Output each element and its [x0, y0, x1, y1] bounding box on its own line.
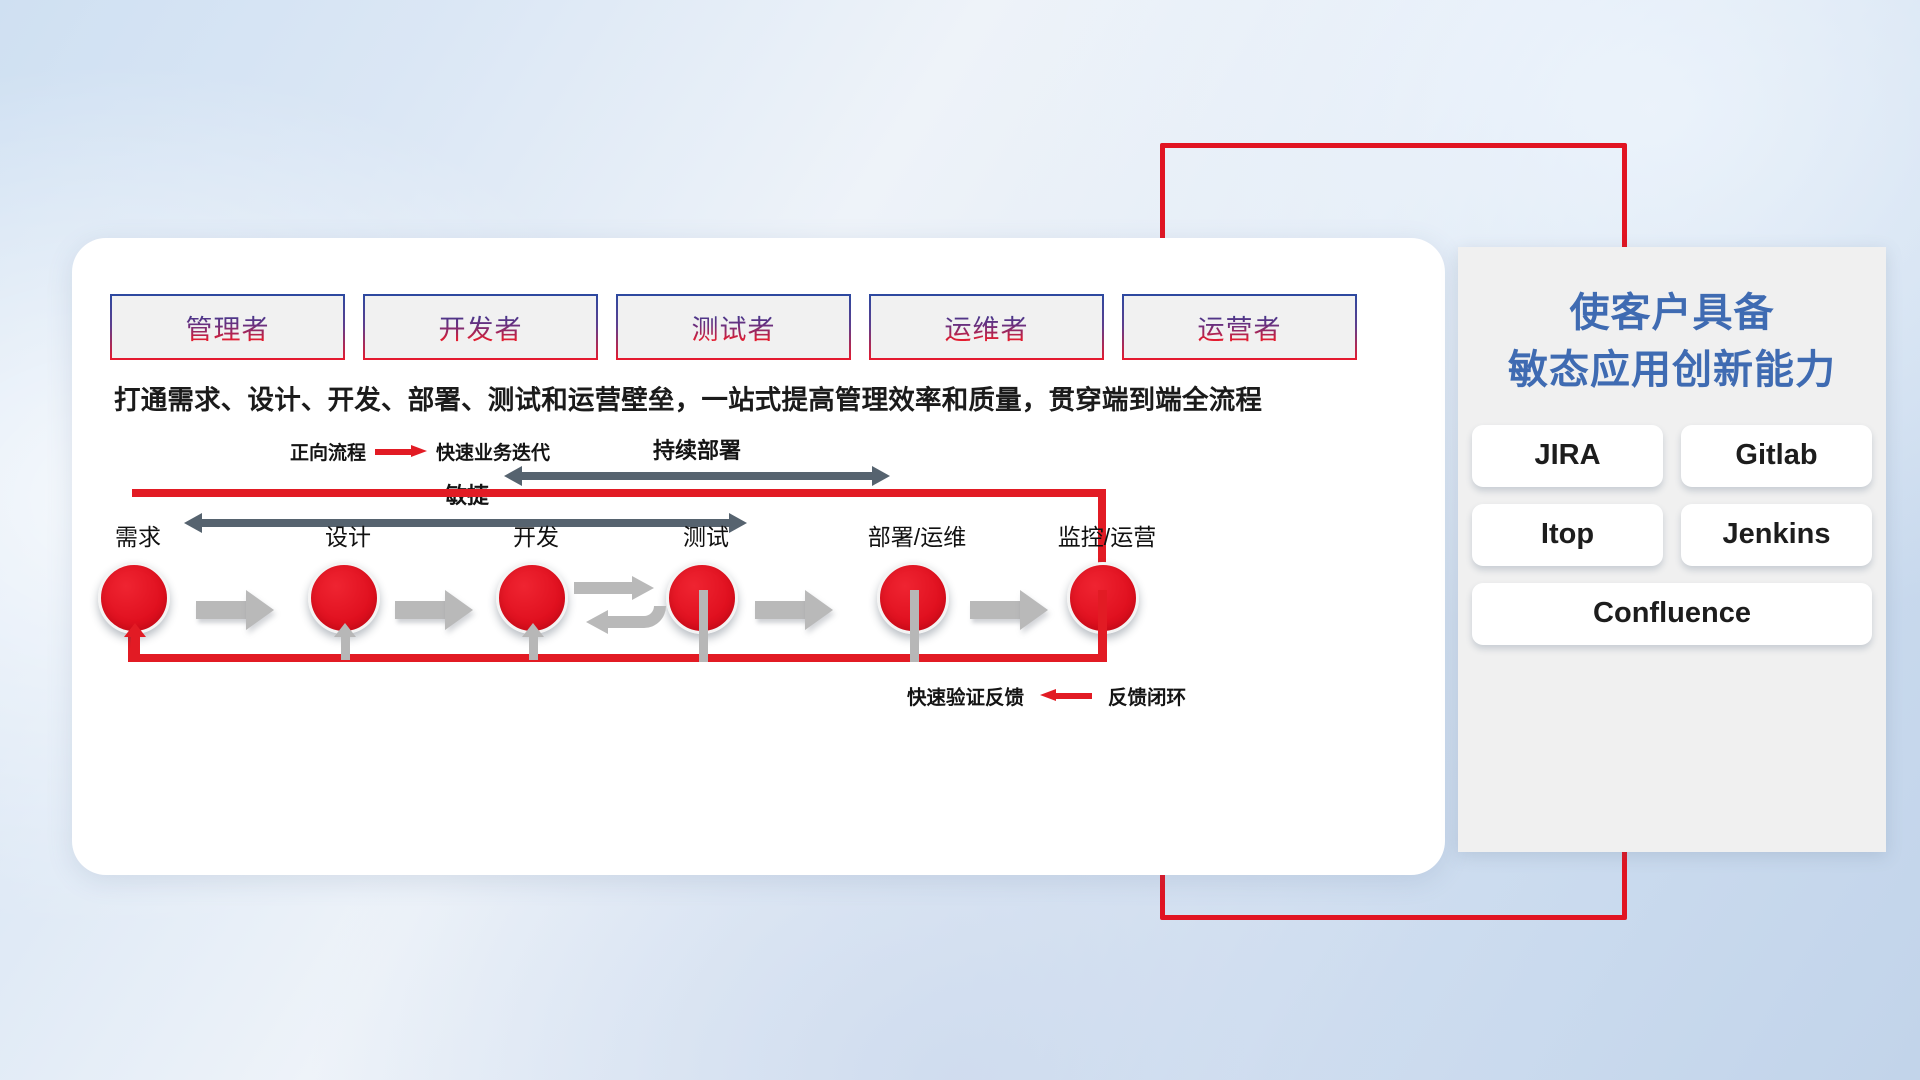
- stage-label: 开发: [513, 518, 559, 552]
- connector-requirement: [131, 634, 140, 660]
- tool-button-gitlab[interactable]: Gitlab: [1681, 425, 1872, 487]
- stage-development[interactable]: 开发: [496, 526, 576, 634]
- panel-title: 使客户具备 敏态应用创新能力: [1458, 285, 1886, 399]
- tool-button-itop[interactable]: Itop: [1472, 504, 1663, 566]
- tool-button-jira[interactable]: JIRA: [1472, 425, 1663, 487]
- flow-arrow-2-icon: [395, 590, 473, 630]
- connector-design: [341, 634, 350, 660]
- stage-label: 需求: [115, 518, 161, 552]
- panel-title-line2: 敏态应用创新能力: [1458, 342, 1886, 399]
- connector-development: [529, 634, 538, 660]
- stage-label: 设计: [325, 518, 371, 552]
- flow-arrow-1-icon: [196, 590, 274, 630]
- tool-button-grid: JIRA Gitlab Itop Jenkins Confluence: [1472, 425, 1872, 645]
- tool-button-jenkins[interactable]: Jenkins: [1681, 504, 1872, 566]
- tool-button-confluence[interactable]: Confluence: [1472, 583, 1872, 645]
- stage-label: 测试: [683, 518, 729, 552]
- value-proposition-panel: 使客户具备 敏态应用创新能力 JIRA Gitlab Itop Jenkins …: [1458, 247, 1886, 852]
- connector-testing: [699, 590, 708, 662]
- connector-development-head-icon: [522, 623, 544, 637]
- stage-requirement[interactable]: 需求: [98, 526, 178, 634]
- connector-deploy: [910, 590, 919, 662]
- panel-title-line1: 使客户具备: [1458, 285, 1886, 342]
- stage-label: 部署/运维: [868, 518, 966, 552]
- stage-label: 监控/运营: [1058, 518, 1156, 552]
- main-content-card: 管理者 开发者 测试者 运维者 运营者 打通需求、设计、开发、部署、测试和运营壁…: [72, 238, 1445, 875]
- stage-design[interactable]: 设计: [308, 526, 388, 634]
- flow-arrow-loopback-icon: [572, 576, 668, 638]
- devops-pipeline: 需求 设计 开发 测试 部署/运维 监控/运营: [72, 238, 1445, 875]
- connector-design-head-icon: [334, 623, 356, 637]
- stage-monitor-operation[interactable]: 监控/运营: [1067, 526, 1147, 634]
- connector-requirement-head-icon: [124, 623, 146, 637]
- connector-monitor: [1098, 590, 1107, 662]
- flow-arrow-4-icon: [755, 590, 833, 630]
- flow-arrow-5-icon: [970, 590, 1048, 630]
